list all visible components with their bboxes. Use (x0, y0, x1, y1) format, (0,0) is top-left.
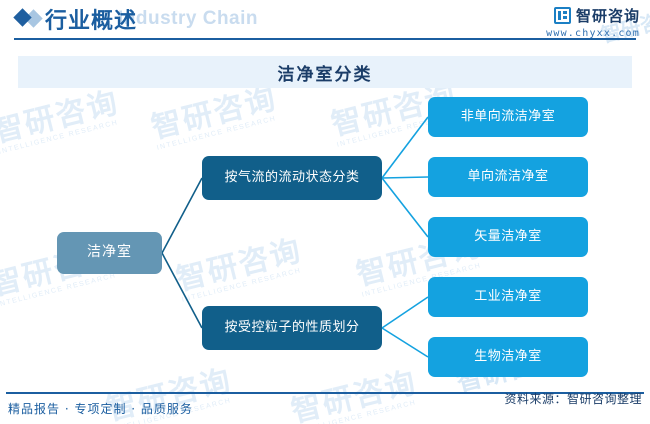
header-subtitle: Industry Chain (118, 8, 258, 30)
source-note: 资料来源：智研咨询整理 (504, 390, 642, 407)
node-leaf-unidirectional[interactable]: 单向流洁净室 (428, 157, 588, 197)
header-divider (14, 38, 636, 40)
brand-name: 智研咨询 (576, 5, 640, 26)
brand-logo[interactable]: 智研咨询 www.chyxx.com (546, 5, 640, 39)
brand-url[interactable]: www.chyxx.com (546, 28, 640, 39)
diamond-icon (14, 9, 44, 27)
chart-title-band: 洁净室分类 (18, 56, 632, 88)
node-branch-airflow[interactable]: 按气流的流动状态分类 (202, 156, 382, 200)
footer-tagline: 精品报告 · 专项定制 · 品质服务 (8, 400, 193, 417)
page-footer: 精品报告 · 专项定制 · 品质服务 资料来源：智研咨询整理 (0, 390, 650, 424)
node-leaf-non-unidirectional[interactable]: 非单向流洁净室 (428, 97, 588, 137)
node-leaf-biological[interactable]: 生物洁净室 (428, 337, 588, 377)
zhiyan-logo-icon (554, 7, 571, 24)
cleanroom-classification-diagram: 洁净室 按气流的流动状态分类 按受控粒子的性质划分 非单向流洁净室 单向流洁净室… (0, 88, 650, 388)
node-branch-particle[interactable]: 按受控粒子的性质划分 (202, 306, 382, 350)
chart-title: 洁净室分类 (278, 60, 373, 85)
node-leaf-industrial[interactable]: 工业洁净室 (428, 277, 588, 317)
node-root[interactable]: 洁净室 (57, 232, 162, 274)
page-title: 行业概述 (45, 3, 137, 35)
node-leaf-vector[interactable]: 矢量洁净室 (428, 217, 588, 257)
